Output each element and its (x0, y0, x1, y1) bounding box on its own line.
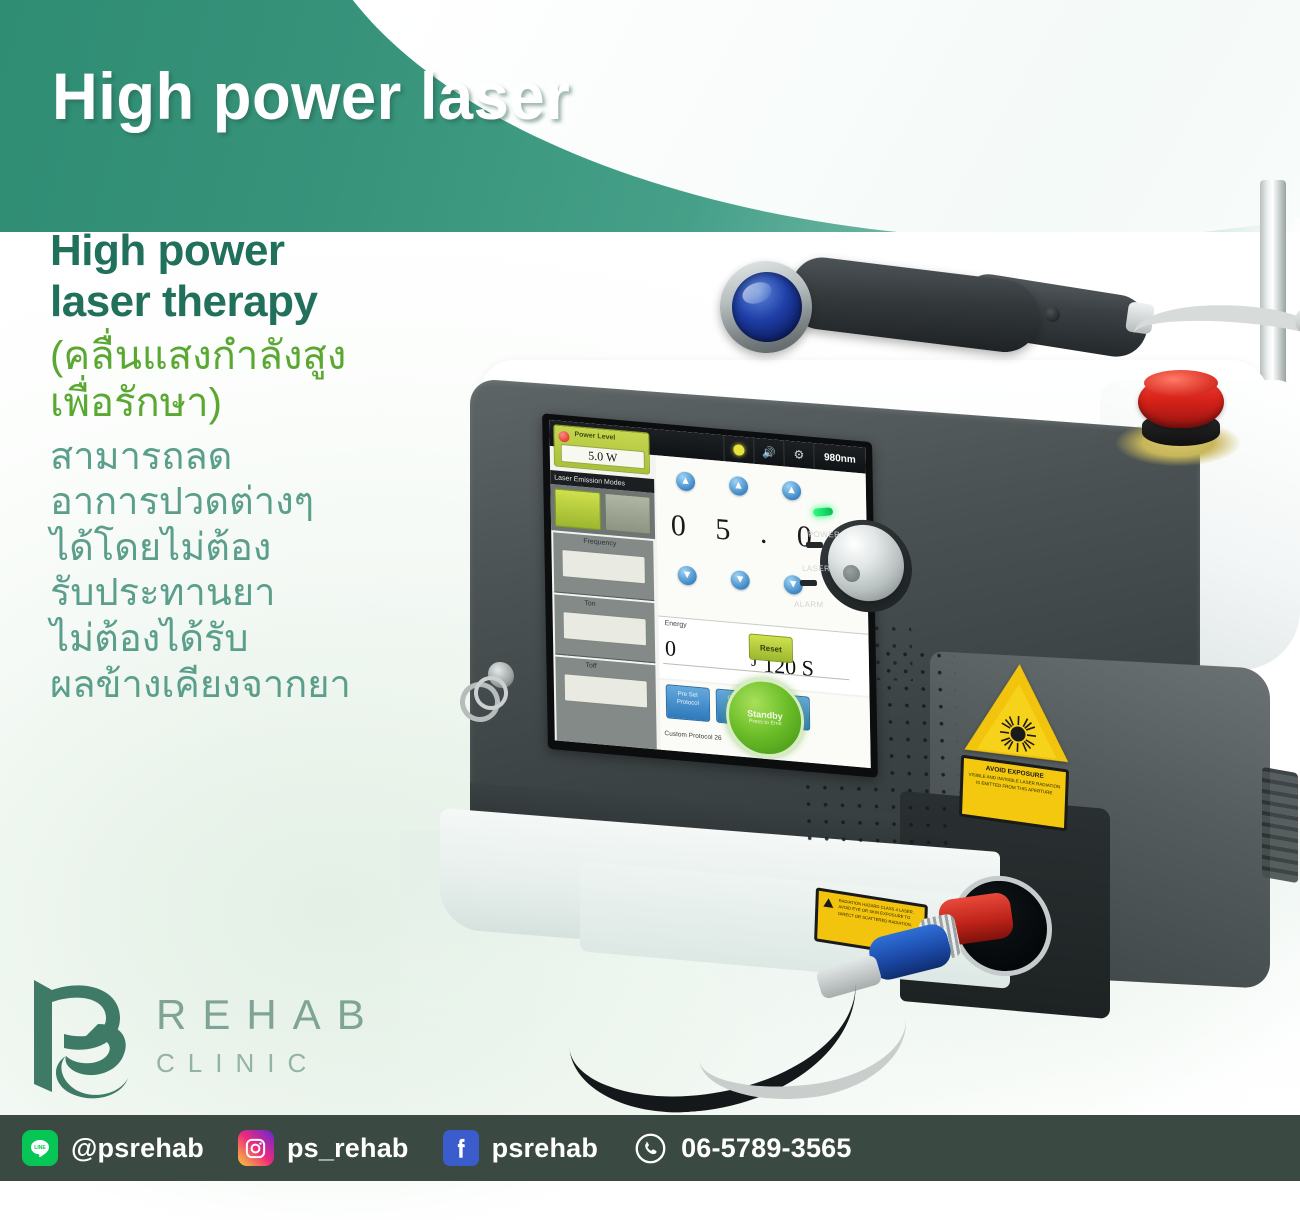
headline-line-2: laser therapy (50, 276, 460, 327)
line-handle: @psrehab (71, 1133, 204, 1164)
gear-icon: ⚙ (793, 447, 804, 462)
phone-number: 06-5789-3565 (681, 1133, 852, 1164)
facebook-contact[interactable]: psrehab (443, 1130, 598, 1166)
headline: High power laser therapy (50, 225, 460, 327)
ton-field[interactable]: Ton (554, 594, 655, 663)
increase-ones-button[interactable]: ▲ (729, 476, 748, 497)
contact-footer: LINE @psrehab ps_rehab psrehab (0, 1115, 1300, 1181)
laser-device-photo: 🔊 ⚙ 980nm Power Level 5.0 W Laser Emissi… (400, 190, 1300, 1120)
power-level-value: 5.0 W (561, 444, 645, 469)
phone-contact[interactable]: 06-5789-3565 (632, 1130, 852, 1166)
thai-subtitle: (คลื่นแสงกำลังสูง เพื่อรักษา) (50, 333, 460, 427)
emergency-stop-top (1144, 370, 1218, 396)
thai-body-line-5: ไม่ต้องได้รับ (50, 617, 460, 663)
power-level-label: Power Level (574, 431, 615, 442)
instagram-icon (238, 1130, 274, 1166)
thai-body-line-2: อาการปวดต่างๆ (50, 480, 460, 526)
ton-label: Ton (584, 600, 595, 608)
page-title: High power laser (52, 58, 570, 134)
brand-logo: REHAB CLINIC (18, 968, 418, 1103)
sound-button[interactable]: 🔊 (753, 438, 783, 467)
mode-continuous-button[interactable] (554, 488, 601, 530)
alarm-led-label: ALARM (794, 600, 824, 610)
thai-subtitle-line-1: (คลื่นแสงกำลังสูง (50, 333, 460, 380)
speaker-icon: 🔊 (762, 445, 776, 459)
increase-decimal-button[interactable]: ▲ (782, 480, 801, 501)
toff-value (564, 673, 648, 708)
line-icon: LINE (22, 1130, 58, 1166)
power-level-panel[interactable]: Power Level 5.0 W (553, 424, 650, 474)
toff-label: Toff (585, 662, 596, 670)
frequency-field[interactable]: Frequency (553, 532, 654, 601)
toff-field[interactable]: Toff (555, 656, 656, 749)
power-led-label: POWER (808, 530, 841, 540)
frequency-value (561, 549, 645, 584)
thai-body-line-6: ผลข้างเคียงจากยา (50, 663, 460, 709)
facebook-handle: psrehab (492, 1133, 598, 1164)
small-warning-triangle-icon (823, 898, 833, 909)
laser-led-icon (806, 542, 823, 548)
ps-monogram-icon (24, 972, 142, 1100)
touchscreen-display[interactable]: 🔊 ⚙ 980nm Power Level 5.0 W Laser Emissi… (549, 420, 871, 768)
laser-burst-icon (997, 712, 1038, 757)
laser-ready-dot-icon (733, 444, 744, 456)
laser-class-text: RADIATION HAZARD CLASS 4 LASER. AVOID EY… (824, 896, 919, 930)
headline-line-1: High power (50, 225, 460, 276)
handpiece-trigger-button[interactable] (1045, 307, 1060, 322)
line-contact[interactable]: LINE @psrehab (22, 1130, 204, 1166)
emission-modes-row[interactable] (550, 484, 655, 539)
ventilation-slots (1262, 767, 1298, 883)
energy-label: Energy (665, 620, 687, 629)
thai-subtitle-line-2: เพื่อรักษา) (50, 380, 460, 427)
instagram-handle: ps_rehab (287, 1133, 409, 1164)
handpiece-body (787, 254, 1044, 356)
brand-name: REHAB (156, 994, 381, 1036)
svg-text:LINE: LINE (34, 1145, 46, 1151)
reset-button[interactable]: Reset (749, 633, 793, 663)
facebook-icon (443, 1130, 479, 1166)
increase-tens-button[interactable]: ▲ (676, 471, 695, 492)
thai-body-line-3: ได้โดยไม่ต้อง (50, 526, 460, 572)
phone-icon (632, 1130, 668, 1166)
settings-button[interactable]: ⚙ (783, 440, 813, 469)
ton-value (563, 611, 647, 646)
thai-body-line-1: สามารถลด (50, 435, 460, 481)
knob-dimple (843, 564, 860, 582)
laser-led-label: LASER (802, 564, 831, 574)
decrease-ones-button[interactable]: ▼ (731, 570, 750, 591)
increment-row[interactable]: ▲ ▲ ▲ (676, 471, 801, 501)
decrease-tens-button[interactable]: ▼ (678, 565, 697, 586)
thai-body-line-4: รับประทานยา (50, 571, 460, 617)
thai-body: สามารถลด อาการปวดต่างๆ ได้โดยไม่ต้อง รับ… (50, 435, 460, 709)
frequency-label: Frequency (583, 538, 616, 548)
laser-handpiece (695, 245, 1165, 385)
energy-value: 0 (665, 635, 676, 662)
decrement-row[interactable]: ▼ ▼ ▼ (678, 565, 803, 595)
preset-protocol-button[interactable]: Pre Set Protocol (666, 684, 711, 722)
text-column: High power laser therapy (คลื่นแสงกำลังส… (50, 225, 460, 708)
brand-wordmark: REHAB CLINIC (156, 994, 381, 1076)
instagram-contact[interactable]: ps_rehab (238, 1130, 409, 1166)
emission-indicator-icon (558, 431, 569, 443)
mode-pulsed-button[interactable] (604, 493, 651, 535)
alarm-led-icon (800, 580, 817, 586)
brand-subname: CLINIC (156, 1050, 381, 1076)
status-led-indicator (723, 435, 753, 464)
